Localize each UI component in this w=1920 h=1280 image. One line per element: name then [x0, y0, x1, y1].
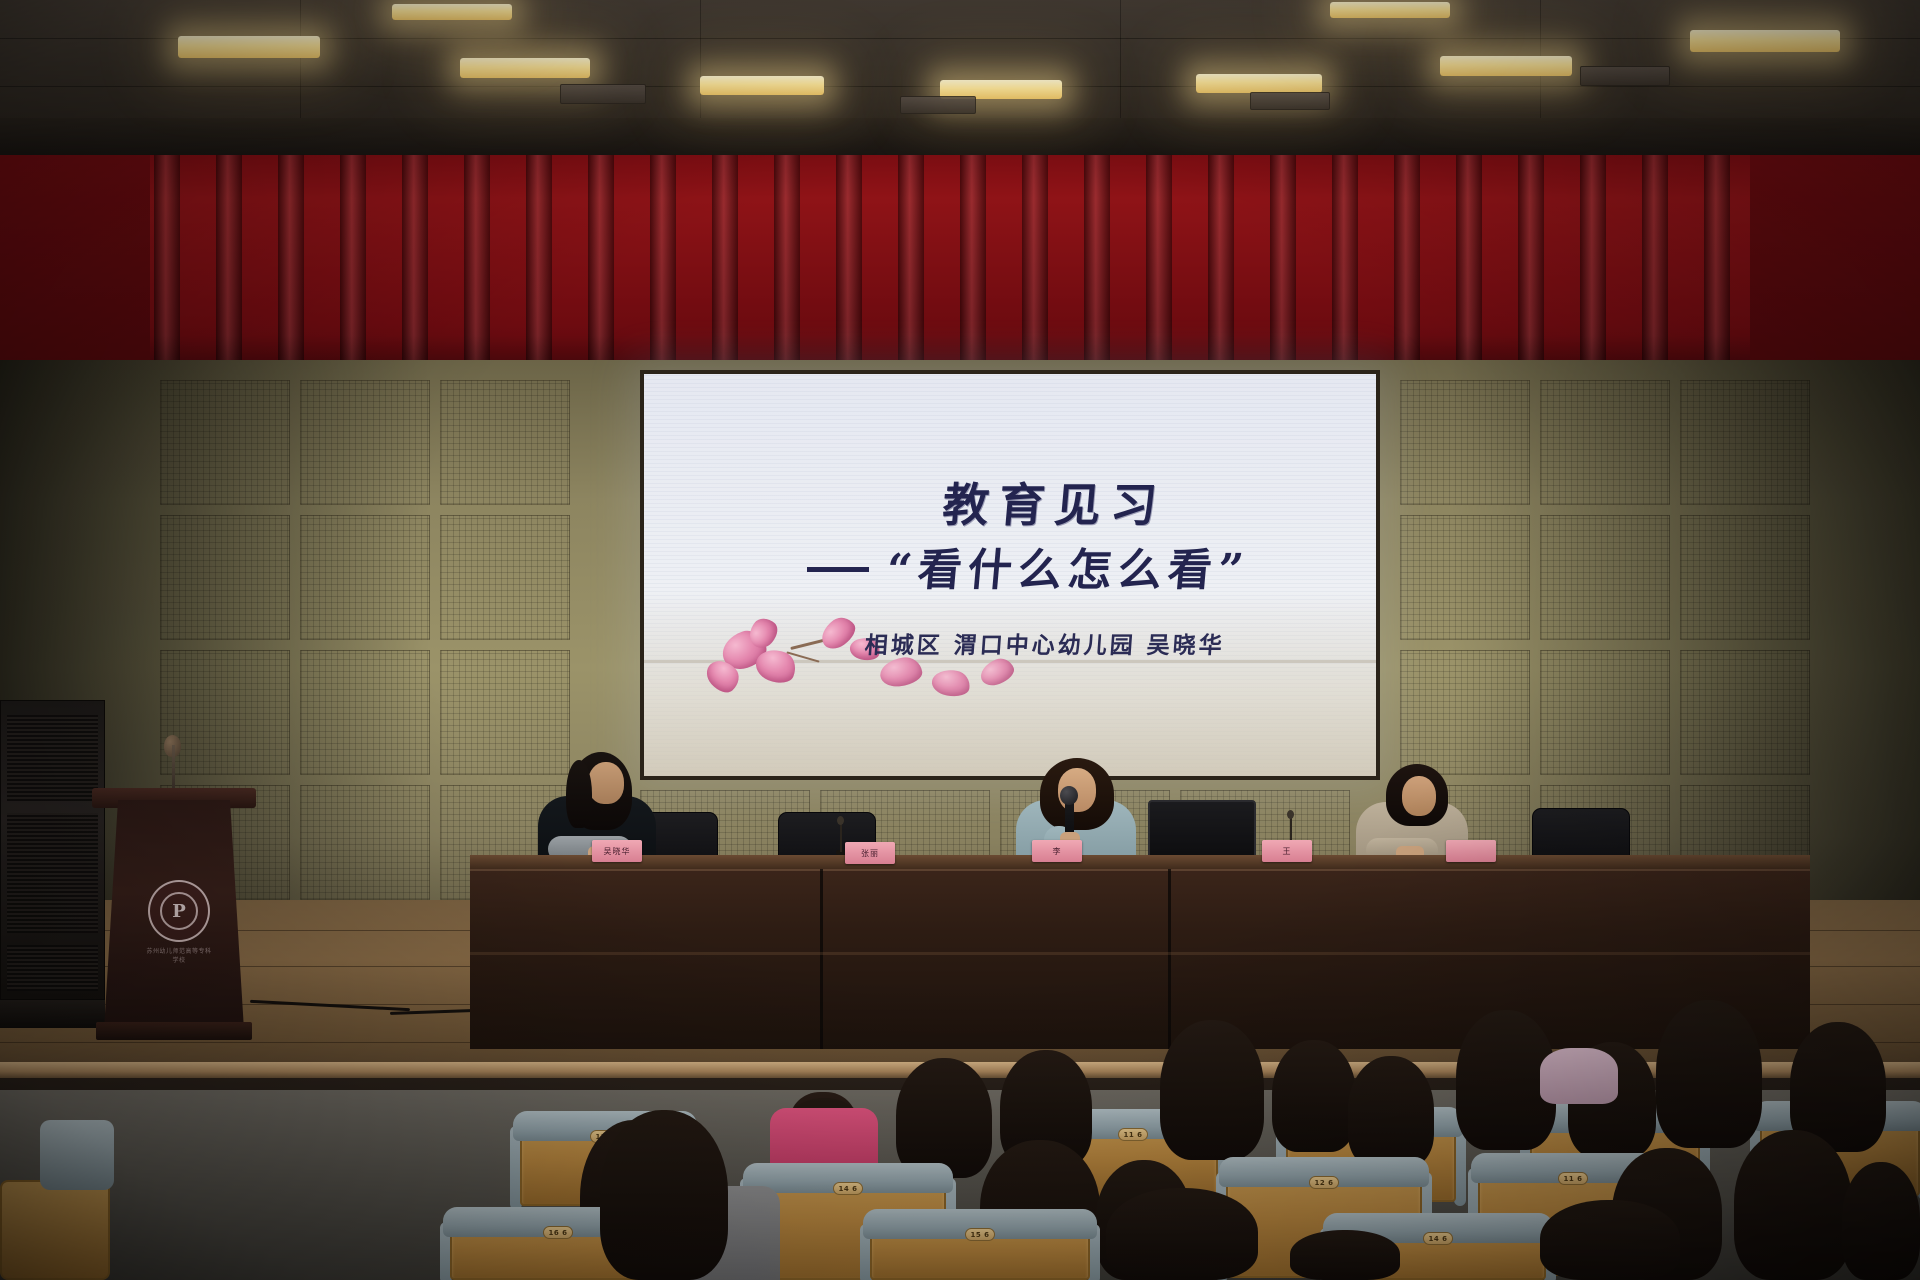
wall-acoustic-panel	[440, 650, 570, 775]
audience-hair	[1734, 1130, 1852, 1280]
wall-acoustic-panel	[440, 515, 570, 640]
microphone-head-icon	[1060, 786, 1078, 805]
slide-subtitle: “看什么怎么看”	[884, 534, 1252, 598]
seal-caption: 苏州幼儿师范高等专科学校	[146, 946, 212, 964]
ceiling-light	[1690, 30, 1840, 52]
slide-title: 教育见习	[644, 469, 1376, 535]
pa-speaker	[0, 700, 105, 1000]
seat-number: 12 6	[1309, 1176, 1339, 1189]
wall-shadow	[1450, 360, 1920, 920]
table-mic-head-icon	[1287, 810, 1294, 819]
panelist-left-hair-side	[566, 760, 592, 828]
slide-dash-icon	[807, 567, 869, 572]
audience-hair	[1656, 1000, 1762, 1148]
ceiling-vent	[1250, 92, 1330, 110]
seat-number: 14 6	[833, 1182, 863, 1195]
auditorium-scene: 教育见习 “看什么怎么看” 相城区 渭口中心幼儿园 吴晓华 P 苏州幼儿师范高等…	[0, 0, 1920, 1280]
name-placard: 张丽	[845, 842, 895, 864]
projection-screen: 教育见习 “看什么怎么看” 相城区 渭口中心幼儿园 吴晓华	[640, 370, 1380, 780]
table-mic-rod	[840, 824, 842, 852]
name-placard: 王	[1262, 840, 1312, 862]
head-table-seam	[1168, 869, 1171, 1049]
podium-base	[96, 1022, 252, 1040]
head-table-seam	[820, 869, 823, 1049]
ceiling-vent	[560, 84, 646, 104]
ceiling-light	[1196, 74, 1322, 93]
pa-speaker-base	[0, 1000, 105, 1028]
audience-hair	[1106, 1188, 1258, 1280]
head-table-front	[470, 869, 1810, 1049]
ceiling-light	[178, 36, 320, 58]
panelist-right-head	[1402, 776, 1436, 816]
panelist-left-head	[588, 762, 624, 804]
ceiling-band	[0, 118, 1920, 160]
table-mic-head-icon	[837, 816, 844, 825]
ceiling-vent	[900, 96, 976, 114]
head-table-highlight	[470, 952, 1810, 955]
audience-hair	[1348, 1056, 1434, 1168]
slide-byline: 相城区 渭口中心幼儿园 吴晓华	[644, 626, 1376, 660]
audience-hair	[600, 1110, 728, 1280]
ceiling-vent	[1580, 66, 1670, 86]
name-placard: 吴晓华	[592, 840, 642, 862]
seat-number: 16 6	[543, 1226, 573, 1239]
seal-monogram: P	[160, 892, 198, 930]
ceiling-light	[700, 76, 824, 95]
wall-acoustic-panel	[440, 380, 570, 505]
name-placard: 李	[1032, 840, 1082, 862]
ceiling-grid-line	[1120, 0, 1121, 118]
ceiling-light	[1440, 56, 1572, 76]
stage-curtain	[0, 155, 1920, 395]
audience-hair	[1842, 1162, 1920, 1280]
name-placard	[1446, 840, 1496, 862]
audience-hair	[1272, 1040, 1356, 1152]
seat-number: 11 6	[1558, 1172, 1588, 1185]
aisle-seat[interactable]	[0, 1180, 110, 1280]
audience-pink-jacket	[770, 1108, 878, 1170]
aisle-seat-cushion[interactable]	[40, 1120, 114, 1190]
ceiling-light	[392, 4, 512, 20]
ceiling-grid-line	[700, 0, 701, 118]
audience-hair	[896, 1058, 992, 1178]
podium-mic-stand	[172, 745, 175, 793]
ceiling-grid-line	[300, 0, 301, 118]
university-seal-icon: P	[148, 880, 210, 942]
seat-number: 15 6	[965, 1228, 995, 1241]
slide-subtitle-row: “看什么怎么看”	[644, 534, 1376, 598]
audience-hair-tie	[1540, 1048, 1618, 1104]
seat-number: 14 6	[1423, 1232, 1453, 1245]
seat-number: 11 6	[1118, 1128, 1148, 1141]
ceiling-light	[1330, 2, 1450, 18]
audience-hair	[1290, 1230, 1400, 1280]
audience-hair	[1160, 1020, 1264, 1160]
ceiling-light	[460, 58, 590, 78]
audience-hair	[1540, 1200, 1680, 1280]
seat[interactable]: 15 6	[870, 1218, 1090, 1280]
